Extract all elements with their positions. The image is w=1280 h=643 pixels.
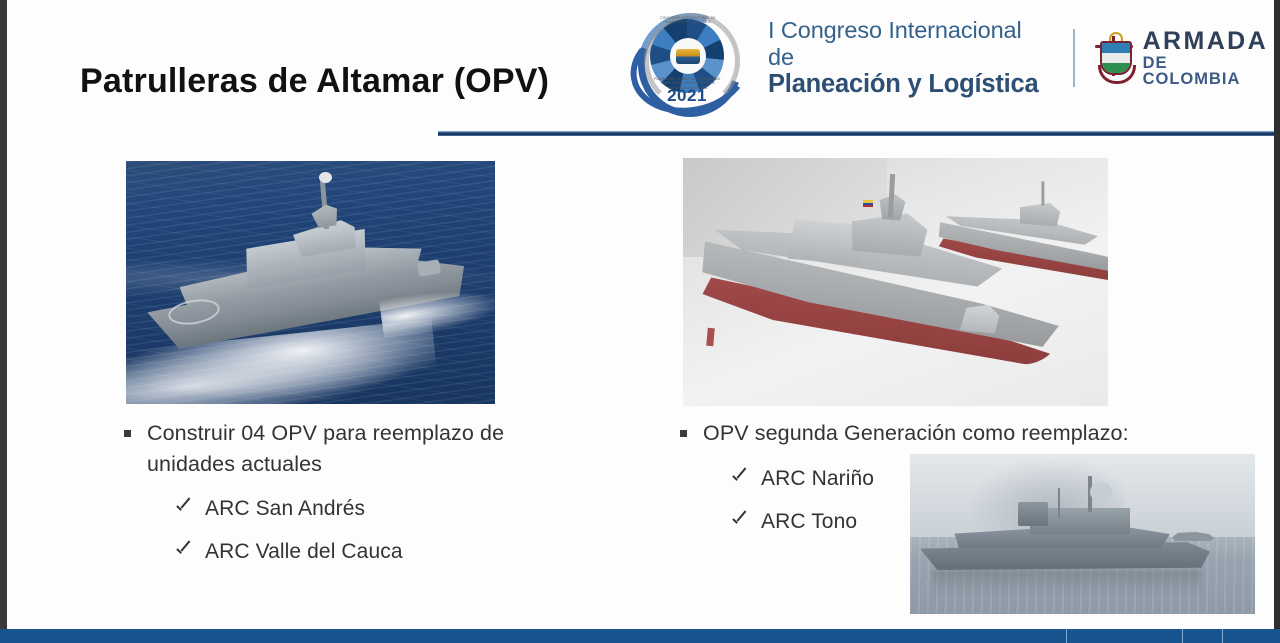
shield-band-blue (1102, 43, 1130, 53)
shield-band-green (1102, 63, 1130, 73)
logo-year: 2021 (630, 86, 744, 106)
list-item: ARC Tono (730, 508, 1140, 535)
title-underline-divider (438, 131, 1280, 136)
video-player-bar[interactable] (0, 629, 1280, 643)
list-item: ARC Nariño (730, 465, 1140, 492)
right-main-bullet-text: OPV segunda Generación como reemplazo: (703, 418, 1129, 449)
list-item: ARC Valle del Cauca (174, 538, 544, 565)
presentation-slide: CONGRESO INTERNACIONAL DE PLANEACIÓN Y L… (0, 0, 1280, 643)
logo-microtext-top: CONGRESO INTERNACIONAL DE PLANEACIÓN Y L… (652, 16, 724, 36)
check-icon (730, 513, 747, 530)
left-main-bullet: Construir 04 OPV para reemplazo de unida… (124, 418, 544, 479)
right-main-bullet: OPV segunda Generación como reemplazo: (680, 418, 1140, 449)
frigate-water-reflection (932, 570, 1202, 596)
front-ship-flag (863, 200, 873, 207)
opv-at-sea-photo (126, 161, 495, 404)
check-icon (174, 500, 191, 517)
logo-core-emblem (670, 38, 706, 74)
congress-logo-icon: CONGRESO INTERNACIONAL DE PLANEACIÓN Y L… (630, 9, 756, 107)
viewer-left-edge (0, 0, 7, 643)
list-item: ARC San Andrés (174, 495, 544, 522)
logo-crest-shape (676, 49, 700, 64)
ship-radome (319, 172, 332, 183)
armada-wordmark-line2: DE COLOMBIA (1143, 55, 1270, 88)
right-bullet-column: OPV segunda Generación como reemplazo: A… (680, 418, 1140, 535)
right-sub-item-0: ARC Nariño (761, 465, 874, 492)
shield-band-white (1102, 53, 1130, 63)
left-bullet-column: Construir 04 OPV para reemplazo de unida… (124, 418, 544, 566)
left-main-bullet-text: Construir 04 OPV para reemplazo de unida… (147, 418, 544, 479)
armada-wordmark: ARMADA DE COLOMBIA (1143, 29, 1270, 88)
left-sub-item-1: ARC Valle del Cauca (205, 538, 403, 565)
opv-second-generation-render (683, 158, 1108, 406)
square-bullet-icon (124, 430, 131, 437)
congress-title-line2: Planeación y Logística (768, 70, 1053, 99)
viewer-right-edge (1274, 0, 1280, 643)
page-title: Patrulleras de Altamar (OPV) (80, 62, 549, 101)
front-ship-support-strut (706, 328, 715, 347)
congress-title-line1: I Congreso Internacional de (768, 17, 1053, 70)
right-sub-item-1: ARC Tono (761, 508, 857, 535)
check-icon (730, 470, 747, 487)
left-sub-item-0: ARC San Andrés (205, 495, 365, 522)
header-divider (1073, 29, 1075, 87)
slide-header: CONGRESO INTERNACIONAL DE PLANEACIÓN Y L… (630, 8, 1270, 108)
armada-logo: ARMADA DE COLOMBIA (1091, 29, 1270, 88)
rear-ship-mast (1041, 181, 1044, 205)
player-bar-separator (1222, 629, 1223, 643)
check-icon (174, 543, 191, 560)
player-bar-separator (1066, 629, 1067, 643)
player-bar-separator (1182, 629, 1183, 643)
shield-shape (1100, 41, 1132, 75)
rear-ship-bridge (1018, 200, 1060, 227)
armada-wordmark-line1: ARMADA (1143, 29, 1270, 54)
armada-anchor-shield-icon (1091, 29, 1137, 87)
square-bullet-icon (680, 430, 687, 437)
congress-title: I Congreso Internacional de Planeación y… (768, 17, 1053, 98)
